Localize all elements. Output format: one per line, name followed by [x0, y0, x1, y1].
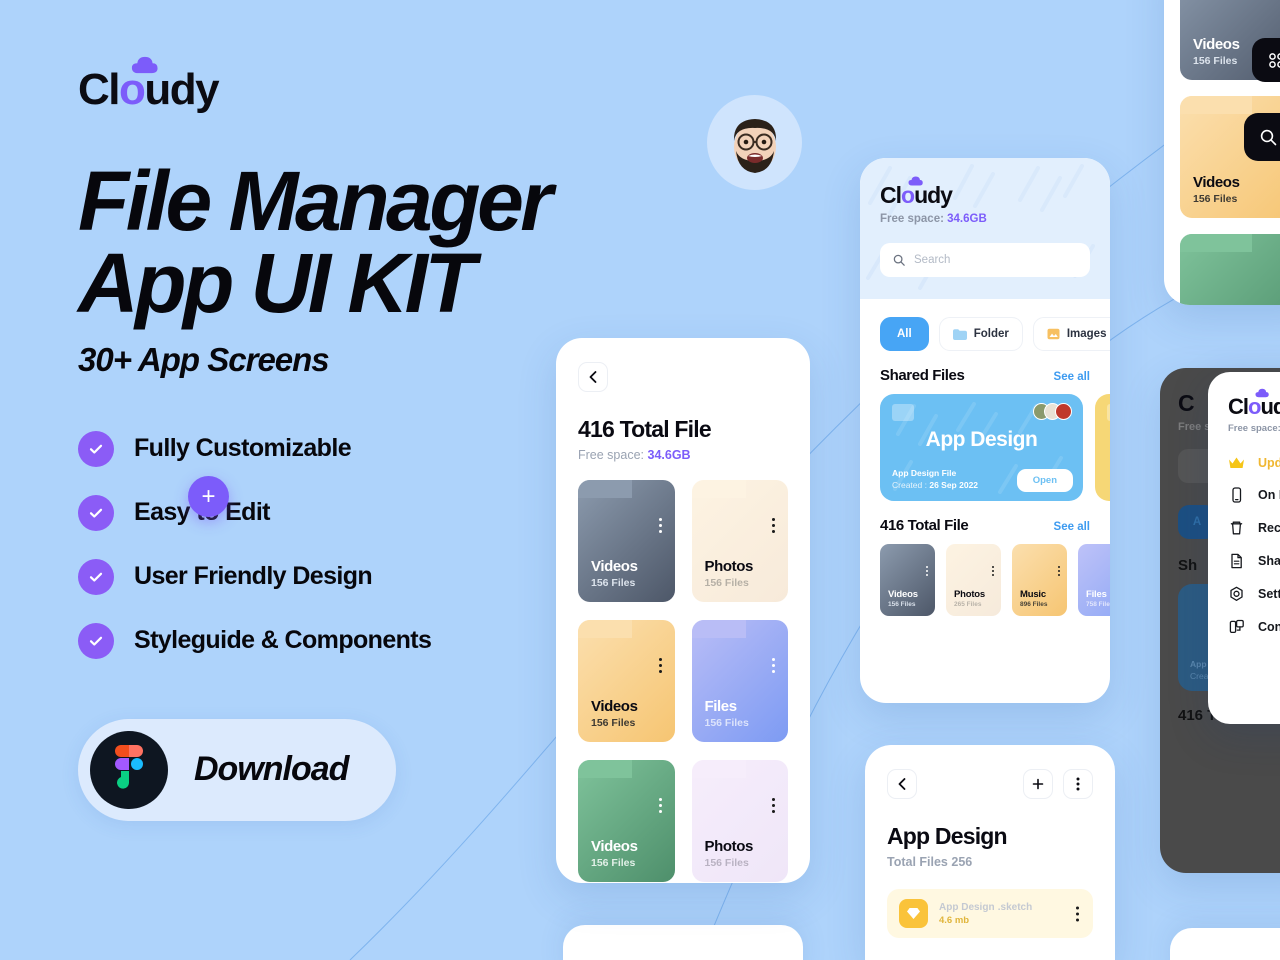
search-placeholder: Search [914, 254, 950, 266]
phone-partial-bottom-center [563, 925, 803, 960]
cloud-icon [908, 176, 923, 186]
avatar-stack [1033, 403, 1072, 420]
avatar [707, 95, 802, 190]
download-label: Download [194, 750, 348, 789]
folder-name: Photos [705, 838, 776, 855]
chip-folder[interactable]: Folder [939, 317, 1023, 351]
folder-card[interactable]: Files758 Files [1078, 544, 1110, 616]
card-created: Created : 26 Sep 2022 [892, 480, 978, 490]
navigation-drawer: Cloudy Free space: 34. Update On My Phon… [1208, 372, 1280, 724]
folder-count: 896 Files [1020, 601, 1047, 608]
search-icon [893, 254, 905, 266]
search-button[interactable] [1244, 113, 1280, 161]
folder-card[interactable]: Videos156 Files [1180, 234, 1280, 305]
total-files-header: 416 Total File See all [860, 501, 1110, 534]
devices-icon [1228, 619, 1245, 635]
drawer-item-recent[interactable]: Recent [1228, 520, 1280, 536]
phone-partial-bottom-right [1170, 928, 1280, 960]
feature-list: Fully Customizable Easy to Edit User Fri… [78, 431, 698, 659]
cloud-icon [1255, 388, 1269, 398]
section-title: 416 Total File [880, 517, 968, 534]
folder-name: Videos [888, 589, 918, 600]
add-fab-button[interactable]: + [188, 476, 229, 517]
feature-label: Styleguide & Components [134, 626, 431, 655]
more-vertical-icon[interactable] [992, 566, 994, 576]
stripe-decoration [860, 158, 1110, 299]
list-item: User Friendly Design [78, 559, 698, 595]
drawer-item-label: Share [1258, 554, 1280, 568]
more-vertical-icon[interactable] [926, 566, 928, 576]
drawer-item-label: Recent [1258, 521, 1280, 535]
folder-count: 156 Files [888, 601, 918, 608]
page-subtitle: 30+ App Screens [78, 341, 698, 379]
list-item: Styleguide & Components [78, 623, 698, 659]
chip-images[interactable]: Images [1033, 317, 1110, 351]
file-size: 4.6 mb [939, 915, 1032, 926]
drawer-menu: Update On My Phone Recent Share Settings… [1228, 456, 1280, 635]
folder-name: Music [1020, 589, 1047, 600]
phone-app-design: App Design Total Files 256 App Design .s… [865, 745, 1115, 960]
add-button[interactable] [1023, 769, 1053, 799]
headline-line-1: File Manager [78, 160, 698, 242]
more-vertical-icon[interactable] [1058, 566, 1060, 576]
brand-logo: Cloudy [78, 68, 218, 112]
page-title: File Manager App UI KIT [78, 160, 698, 325]
list-item[interactable]: App Design .sketch 4.6 mb [887, 889, 1093, 938]
open-button[interactable]: Open [1017, 469, 1073, 492]
folder-count: 156 Files [591, 857, 662, 869]
avatar [1055, 403, 1072, 420]
shared-file-card[interactable]: App Design App Design File Created : 26 … [880, 394, 1083, 501]
document-icon [1228, 553, 1245, 569]
crown-icon [1228, 456, 1245, 470]
card-meta: App Design File Created : 26 Sep 2022 [892, 468, 978, 490]
drawer-item-on-my-phone[interactable]: On My Phone [1228, 487, 1280, 503]
total-files-label: Total Files 256 [887, 855, 1093, 869]
folder-name: Files [1086, 589, 1110, 600]
drawer-item-label: On My Phone [1258, 488, 1280, 502]
page-title: App Design [887, 823, 1093, 850]
folder-count: 156 Files [705, 577, 776, 589]
feature-label: User Friendly Design [134, 562, 372, 591]
trash-icon [1228, 520, 1245, 536]
folder-card[interactable]: Music896 Files [1012, 544, 1067, 616]
more-vertical-icon [1076, 777, 1080, 791]
headline-line-2: App UI KIT [78, 242, 698, 324]
card-subtitle: App Design File [892, 468, 978, 478]
chevron-left-icon [898, 778, 906, 790]
drawer-item-label: Update [1258, 456, 1280, 470]
brand-logo-text: Cloudy [78, 68, 218, 112]
drawer-item-label: Settings [1258, 587, 1280, 601]
phone-icon [1228, 487, 1245, 503]
brand-logo: Cloudy [880, 182, 1090, 209]
folder-card[interactable]: Videos156 Files [880, 544, 935, 616]
check-icon [78, 623, 114, 659]
feature-label: Fully Customizable [134, 434, 351, 463]
search-icon [1260, 129, 1277, 146]
card-title: App Design [880, 428, 1083, 452]
filter-chips: All Folder Images [860, 299, 1110, 351]
sketch-icon [899, 899, 928, 928]
grid-apps-icon [1267, 51, 1280, 70]
list-item: Easy to Edit [78, 495, 698, 531]
folder-count: 156 Files [1193, 193, 1280, 205]
shared-files-strip: App Design App Design File Created : 26 … [860, 384, 1110, 501]
gear-icon [1228, 586, 1245, 602]
drawer-item-update[interactable]: Update [1228, 456, 1280, 470]
folder-name: Videos [1193, 174, 1280, 191]
chip-label: Folder [974, 328, 1009, 340]
back-button[interactable] [887, 769, 917, 799]
total-files-strip: Videos156 Files Photos265 Files Music896… [860, 534, 1110, 616]
folder-count: 156 Files [705, 857, 776, 869]
folder-card[interactable]: Photos156 Files [692, 760, 789, 882]
download-button[interactable]: Download [78, 719, 396, 821]
grid-apps-button[interactable] [1252, 38, 1280, 82]
folder-name: Photos [954, 589, 985, 600]
folder-count: 156 Files [705, 717, 776, 729]
promo-column: Cloudy File Manager App UI KIT 30+ App S… [78, 68, 698, 821]
home-header: Cloudy Free space: 34.6GB Search [860, 158, 1110, 299]
drawer-item-share[interactable]: Share [1228, 553, 1280, 569]
drawer-item-settings[interactable]: Settings [1228, 586, 1280, 602]
folder-card[interactable]: Photos265 Files [946, 544, 1001, 616]
folder-name: Videos [591, 838, 662, 855]
folder-name: Photos [705, 558, 776, 575]
folder-icon [1107, 404, 1110, 421]
file-name: App Design .sketch [939, 901, 1032, 913]
folder-count: 758 Files [1086, 601, 1110, 608]
folder-card[interactable]: Photos156 Files [692, 480, 789, 602]
chip-label: Images [1067, 328, 1107, 340]
free-space-label: Free space: 34.6GB [880, 213, 1090, 225]
more-button[interactable] [1063, 769, 1093, 799]
brand-logo: Cloudy [1228, 394, 1280, 420]
check-icon [78, 495, 114, 531]
drawer-item-label: Connect [1258, 620, 1280, 634]
check-icon [78, 431, 114, 467]
search-input[interactable]: Search [880, 243, 1090, 277]
see-all-link[interactable]: See all [1054, 371, 1090, 383]
list-item: Fully Customizable [78, 431, 698, 467]
shared-files-header: Shared Files See all [860, 351, 1110, 384]
more-vertical-icon[interactable] [772, 518, 775, 533]
folder-count: 265 Files [954, 601, 985, 608]
folder-icon [953, 329, 967, 340]
folder-name: Files [705, 698, 776, 715]
section-title: Shared Files [880, 367, 964, 384]
check-icon [78, 559, 114, 595]
phone-home: Cloudy Free space: 34.6GB Search All Fol… [860, 158, 1110, 703]
figma-icon [90, 731, 168, 809]
more-vertical-icon[interactable] [772, 798, 775, 813]
more-vertical-icon[interactable] [772, 658, 775, 673]
drawer-item-connect[interactable]: Connect [1228, 619, 1280, 635]
shared-file-card[interactable] [1095, 394, 1110, 501]
see-all-link[interactable]: See all [1054, 521, 1090, 533]
more-vertical-icon[interactable] [1076, 906, 1079, 921]
plus-icon: + [201, 485, 215, 509]
free-space-label: Free space: 34. [1228, 423, 1280, 434]
chip-all[interactable]: All [880, 317, 929, 351]
folder-card[interactable]: Files156 Files [692, 620, 789, 742]
image-icon [1047, 328, 1060, 340]
plus-icon [1032, 778, 1044, 790]
